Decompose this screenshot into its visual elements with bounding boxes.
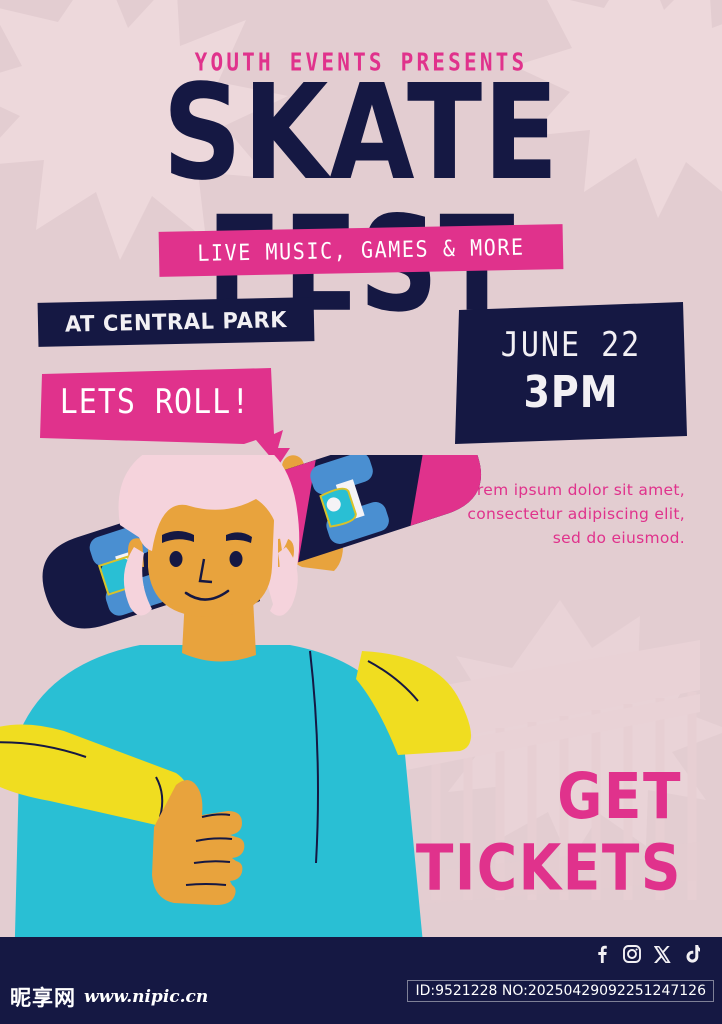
event-date: JUNE 22 bbox=[455, 326, 687, 365]
features-banner: LIVE MUSIC, GAMES & MORE bbox=[159, 224, 564, 277]
eye-left bbox=[170, 551, 183, 567]
event-time: 3PM bbox=[455, 367, 687, 418]
watermark-site-url: www.nipic.cn bbox=[84, 987, 208, 1007]
speech-bubble: LETS ROLL! bbox=[40, 368, 302, 468]
facebook-icon[interactable] bbox=[593, 945, 610, 963]
speech-bubble-label: LETS ROLL! bbox=[40, 364, 270, 440]
footer-bar: 昵享网 www.nipic.cn ID:9521228 NO:202504290… bbox=[0, 937, 722, 1024]
venue-label: AT CENTRAL PARK bbox=[38, 296, 315, 348]
cta-line: TICKETS bbox=[362, 832, 682, 903]
watermark-site-cn: 昵享网 bbox=[10, 982, 76, 1012]
cta-get-tickets[interactable]: GET TICKETS bbox=[362, 761, 682, 904]
watermark-id: ID:9521228 NO:20250429092251247126 bbox=[407, 980, 714, 1002]
watermark: 昵享网 www.nipic.cn bbox=[10, 982, 208, 1012]
tiktok-icon[interactable] bbox=[684, 945, 700, 963]
poster-canvas: YOUTH EVENTS PRESENTS SKATE FEST LIVE MU… bbox=[0, 0, 722, 1024]
social-links bbox=[593, 945, 700, 963]
x-icon[interactable] bbox=[654, 946, 671, 963]
features-banner-label: LIVE MUSIC, GAMES & MORE bbox=[159, 221, 564, 279]
eye-right bbox=[230, 551, 243, 567]
date-box: JUNE 22 3PM bbox=[455, 302, 687, 444]
page-title: SKATE FEST bbox=[0, 68, 722, 332]
cta-line: GET bbox=[362, 761, 682, 832]
venue-badge: AT CENTRAL PARK bbox=[38, 297, 315, 347]
instagram-icon[interactable] bbox=[623, 945, 641, 963]
